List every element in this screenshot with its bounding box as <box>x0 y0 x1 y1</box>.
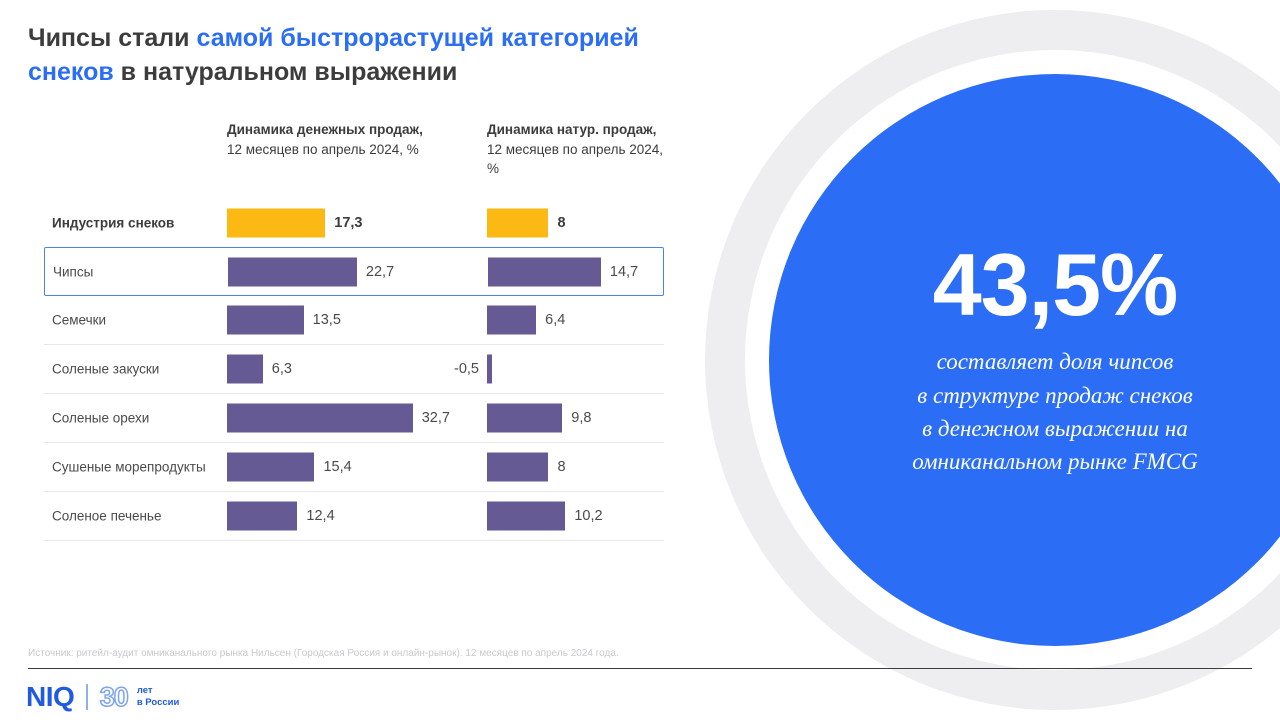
chart-row-label: Индустрия снеков <box>52 215 174 230</box>
chart-row: Соленые закуски6,3-0,5 <box>44 345 664 394</box>
chart-bar-value: 14,7 <box>610 264 638 280</box>
title-part-1: Чипсы стали <box>28 24 196 52</box>
chart-row-label: Чипсы <box>53 264 93 279</box>
column-header-subtitle: 12 месяцев по апрель 2024, % <box>487 140 664 179</box>
title-highlight-1: самой быстрорастущей <box>196 24 494 52</box>
callout-description-line-3: в денежном выражении на <box>912 412 1198 445</box>
chart-row: Чипсы22,714,7 <box>44 247 664 296</box>
chart-row: Соленые орехи32,79,8 <box>44 394 664 443</box>
logo-divider <box>86 684 88 710</box>
snack-growth-chart: Динамика денежных продаж, 12 месяцев по … <box>44 120 664 541</box>
chart-row-label: Соленые закуски <box>52 362 159 377</box>
callout-description-line-4: омниканальном рынке FMCG <box>912 445 1198 478</box>
chart-bar <box>487 502 565 531</box>
column-header-money-sales: Динамика денежных продаж, 12 месяцев по … <box>227 120 423 159</box>
callout-description: составляет доля чипсовв структуре продаж… <box>912 345 1198 478</box>
chart-bar <box>487 208 548 237</box>
chart-row: Индустрия снеков17,38 <box>44 198 664 247</box>
page-title: Чипсы стали самой быстрорастущей категор… <box>28 22 688 90</box>
column-header-volume-sales: Динамика натур. продаж, 12 месяцев по ап… <box>487 120 664 179</box>
chart-row: Соленое печенье12,410,2 <box>44 492 664 541</box>
chart-bar-value: 17,3 <box>334 215 362 231</box>
chart-bar-value: 8 <box>557 459 565 475</box>
chart-bar <box>228 257 357 286</box>
chart-bar-value: -0,5 <box>427 361 479 377</box>
title-part-3: в натуральном выражении <box>114 58 458 86</box>
chart-bar-value: 9,8 <box>571 410 591 426</box>
chart-bar <box>227 306 304 335</box>
chart-rows: Индустрия снеков17,38Чипсы22,714,7Семечк… <box>44 198 664 541</box>
footer-divider <box>28 668 1252 669</box>
column-header-title: Динамика денежных продаж, <box>227 120 423 140</box>
chart-bar <box>487 355 492 384</box>
chart-row-label: Семечки <box>52 313 106 328</box>
chart-bar <box>227 404 413 433</box>
callout-description-line-2: в структуре продаж снеков <box>912 379 1198 412</box>
column-header-subtitle: 12 месяцев по апрель 2024, % <box>227 140 423 160</box>
logo-anniversary-number: 30 <box>100 684 128 711</box>
chart-bar-value: 15,4 <box>323 459 351 475</box>
chart-bar <box>487 453 548 482</box>
niq-logo: NIQ 30 лет в России <box>26 680 179 714</box>
chart-row: Сушеные морепродукты15,48 <box>44 443 664 492</box>
chart-bar-value: 32,7 <box>422 410 450 426</box>
source-footnote: Источник: ритейл-аудит омниканального ры… <box>28 648 619 659</box>
chart-column-headers: Динамика денежных продаж, 12 месяцев по … <box>44 120 664 176</box>
logo-caption-line-1: лет <box>137 685 153 696</box>
title-part-2 <box>494 24 501 52</box>
chart-bar <box>227 502 297 531</box>
callout-description-line-1: составляет доля чипсов <box>912 345 1198 378</box>
chart-bar-value: 22,7 <box>366 264 394 280</box>
callout-content: 43,5% составляет доля чипсовв структуре … <box>769 74 1280 646</box>
chart-bar-value: 6,3 <box>272 361 292 377</box>
chart-bar-value: 10,2 <box>574 508 602 524</box>
chart-bar <box>227 453 314 482</box>
chart-bar-value: 12,4 <box>306 508 334 524</box>
callout-stat-value: 43,5% <box>933 241 1178 329</box>
logo-brand-text: NIQ <box>26 683 74 711</box>
chart-bar-value: 13,5 <box>313 312 341 328</box>
chart-bar <box>488 257 601 286</box>
logo-caption-line-2: в России <box>137 697 180 708</box>
chart-row: Семечки13,56,4 <box>44 296 664 345</box>
chart-bar <box>227 355 263 384</box>
chart-bar-value: 8 <box>557 215 565 231</box>
column-header-title: Динамика натур. продаж, <box>487 120 664 140</box>
chart-bar-value: 6,4 <box>545 312 565 328</box>
chart-bar <box>487 404 562 433</box>
chart-bar <box>227 208 325 237</box>
chart-row-label: Соленые орехи <box>52 411 149 426</box>
chart-row-label: Соленое печенье <box>52 509 161 524</box>
chart-bar <box>487 306 536 335</box>
logo-anniversary-caption: лет в России <box>137 685 180 708</box>
chart-row-label: Сушеные морепродукты <box>52 460 206 475</box>
